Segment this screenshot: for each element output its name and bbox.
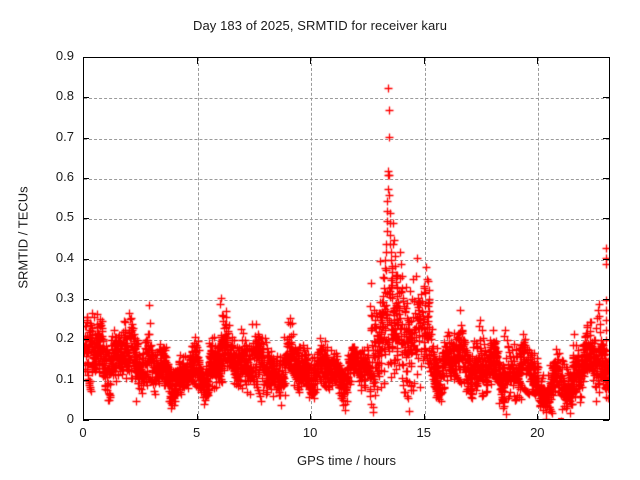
y-tick-mark [83,299,89,300]
scatter-points [84,58,610,420]
y-axis-label: SRMTID / TECUs [16,138,31,338]
x-tick-mark [537,414,538,420]
plot-area [83,57,610,420]
y-tick-mark [83,97,89,98]
y-tick-label: 0.3 [12,290,74,305]
y-tick-mark-right [603,420,609,421]
y-tick-label: 0.1 [12,371,74,386]
y-tick-mark-right [603,97,609,98]
y-tick-label: 0.8 [12,88,74,103]
x-tick-mark-top [197,58,198,64]
y-tick-mark-right [603,218,609,219]
x-tick-mark [424,414,425,420]
y-tick-label: 0.5 [12,209,74,224]
y-tick-mark [83,259,89,260]
y-tick-mark-right [603,138,609,139]
x-tick-mark-top [310,58,311,64]
x-tick-mark [197,414,198,420]
y-tick-mark [83,420,89,421]
y-tick-mark [83,380,89,381]
x-tick-label: 0 [63,425,103,440]
y-tick-label: 0 [12,411,74,426]
y-tick-label: 0.9 [12,48,74,63]
x-axis-label: GPS time / hours [83,453,610,468]
x-tick-mark [310,414,311,420]
x-tick-mark-top [83,58,84,64]
y-tick-label: 0.4 [12,250,74,265]
x-tick-label: 5 [177,425,217,440]
chart-figure: Day 183 of 2025, SRMTID for receiver kar… [0,0,640,480]
x-tick-mark-top [537,58,538,64]
x-tick-label: 15 [404,425,444,440]
x-tick-label: 10 [290,425,330,440]
y-tick-mark-right [603,339,609,340]
x-tick-mark-top [424,58,425,64]
y-tick-mark [83,178,89,179]
y-tick-mark-right [603,380,609,381]
y-tick-label: 0.2 [12,330,74,345]
y-tick-mark-right [603,57,609,58]
y-tick-mark-right [603,178,609,179]
y-tick-mark-right [603,259,609,260]
chart-title: Day 183 of 2025, SRMTID for receiver kar… [0,18,640,33]
y-tick-mark [83,138,89,139]
x-tick-mark [83,414,84,420]
y-tick-mark [83,218,89,219]
y-tick-mark [83,339,89,340]
x-tick-label: 20 [517,425,557,440]
y-tick-mark-right [603,299,609,300]
y-tick-label: 0.6 [12,169,74,184]
y-tick-label: 0.7 [12,129,74,144]
